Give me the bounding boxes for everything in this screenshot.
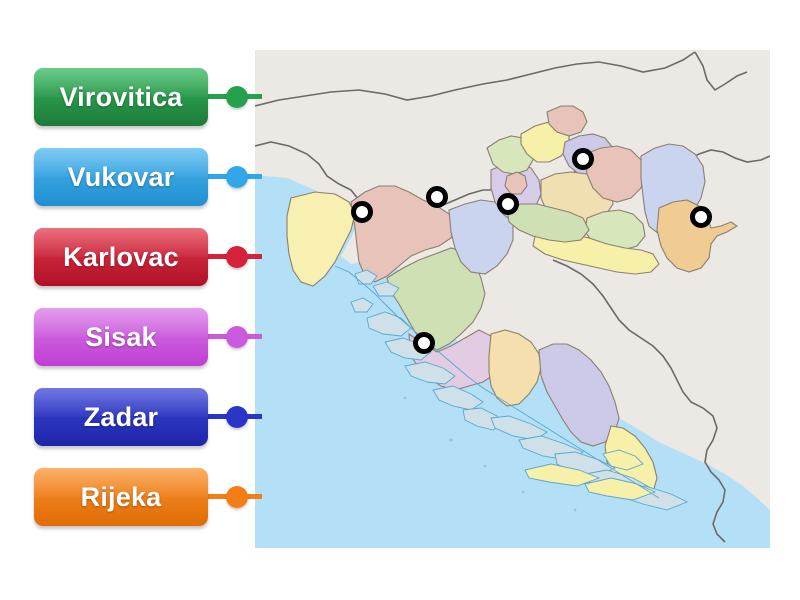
map-marker-4[interactable]: [572, 148, 594, 170]
map-marker-3[interactable]: [497, 193, 519, 215]
map-marker-6[interactable]: [413, 332, 435, 354]
label-row-virovitica: Virovitica: [34, 68, 282, 126]
connector-dot-sisak[interactable]: [226, 326, 248, 348]
label-text-zadar: Zadar: [84, 404, 159, 431]
label-chip-sisak[interactable]: Sisak: [34, 308, 208, 366]
label-row-sisak: Sisak: [34, 308, 282, 366]
label-chip-karlovac[interactable]: Karlovac: [34, 228, 208, 286]
connector-dot-karlovac[interactable]: [226, 246, 248, 268]
label-row-vukovar: Vukovar: [34, 148, 282, 206]
label-text-rijeka: Rijeka: [81, 484, 162, 511]
label-row-rijeka: Rijeka: [34, 468, 282, 526]
label-chip-vukovar[interactable]: Vukovar: [34, 148, 208, 206]
croatia-map-svg: [255, 50, 770, 548]
quiz-canvas: Virovitica Vukovar Karlovac Sisak Zadar: [0, 0, 800, 600]
map-marker-1[interactable]: [351, 201, 373, 223]
label-text-virovitica: Virovitica: [59, 84, 182, 111]
map-marker-2[interactable]: [426, 186, 448, 208]
connector-dot-virovitica[interactable]: [226, 86, 248, 108]
connector-dot-zadar[interactable]: [226, 406, 248, 428]
map-marker-5[interactable]: [690, 206, 712, 228]
connector-dot-vukovar[interactable]: [226, 166, 248, 188]
label-text-sisak: Sisak: [85, 324, 157, 351]
label-row-karlovac: Karlovac: [34, 228, 282, 286]
label-text-karlovac: Karlovac: [63, 244, 179, 271]
label-chip-virovitica[interactable]: Virovitica: [34, 68, 208, 126]
label-row-zadar: Zadar: [34, 388, 282, 446]
label-chip-rijeka[interactable]: Rijeka: [34, 468, 208, 526]
region-zagreb-city: [505, 172, 527, 194]
connector-dot-rijeka[interactable]: [226, 486, 248, 508]
label-text-vukovar: Vukovar: [68, 164, 175, 191]
label-chip-zadar[interactable]: Zadar: [34, 388, 208, 446]
map-image: [255, 50, 770, 548]
